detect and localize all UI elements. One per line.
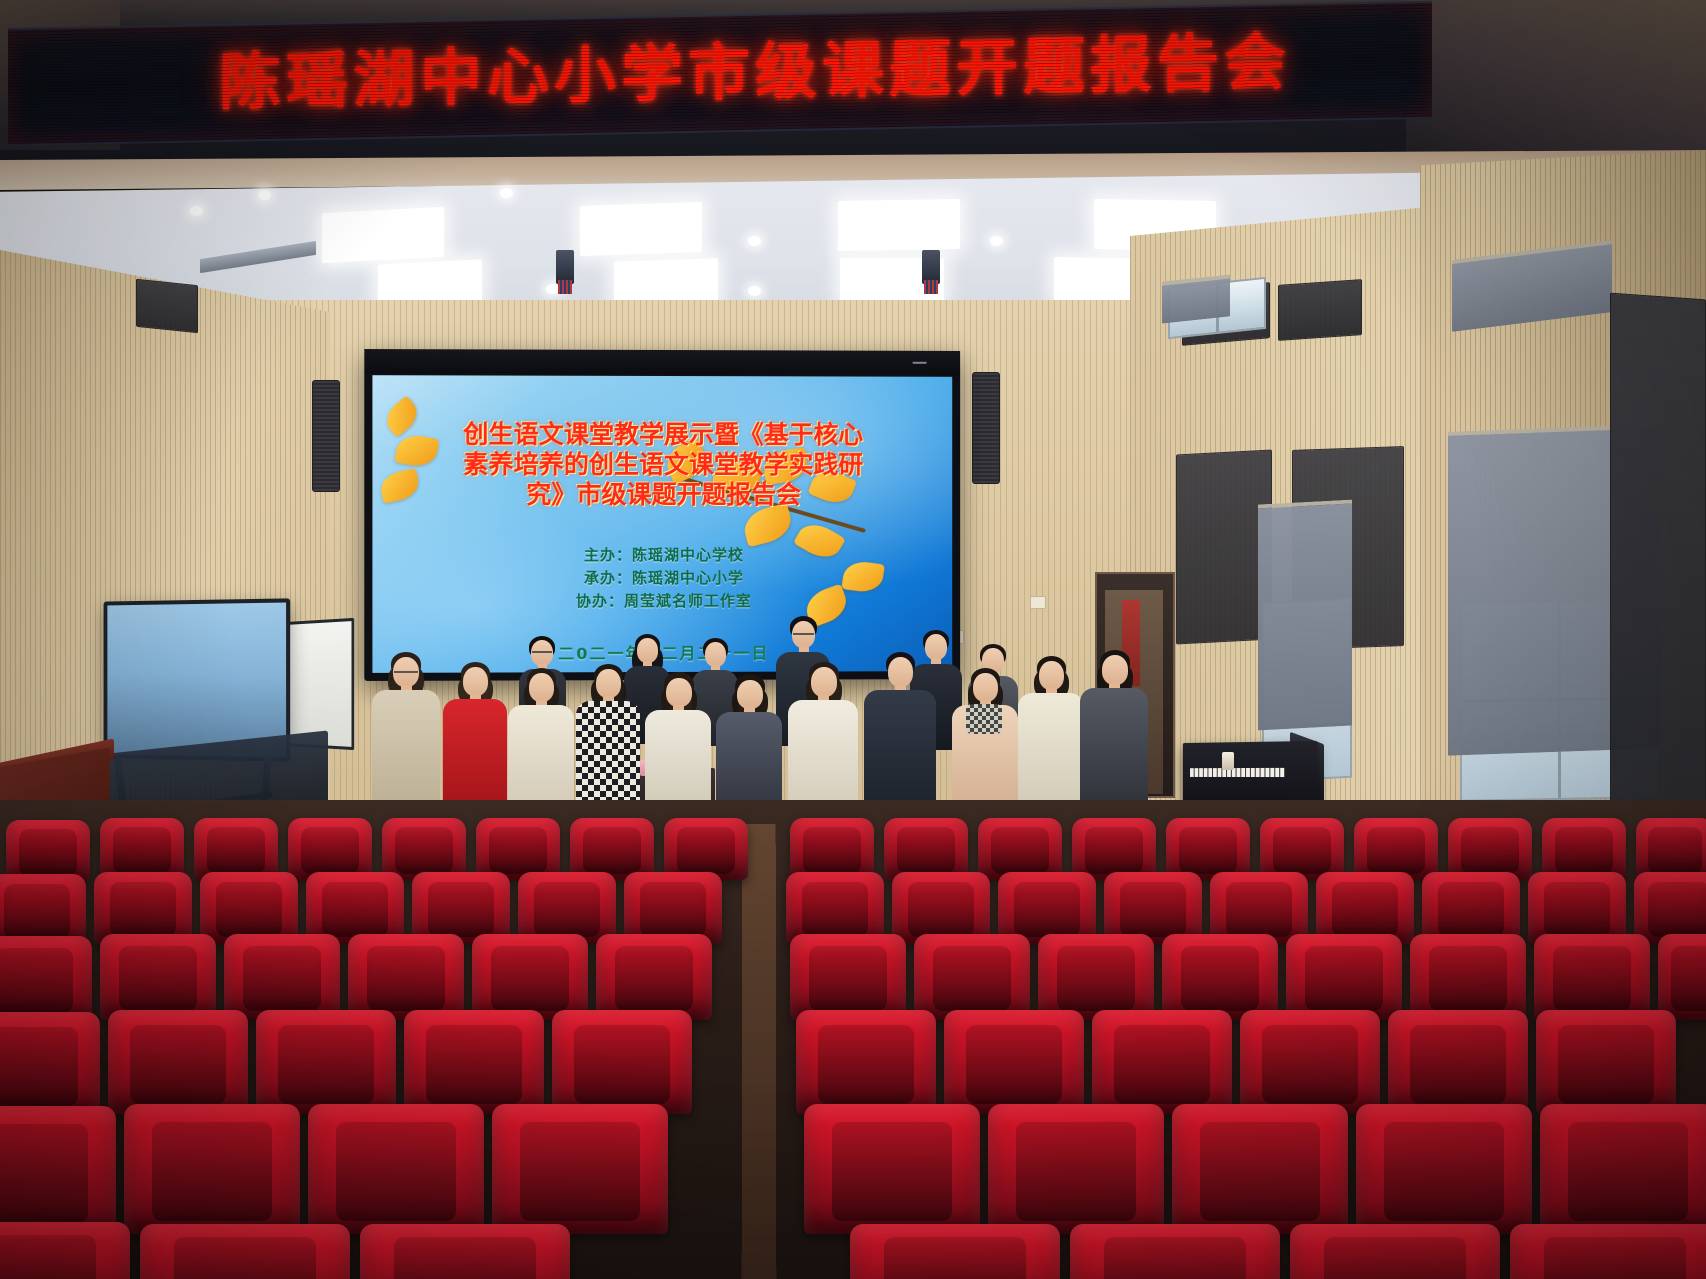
screen-organizer-host: 主办：陈瑶湖中心学校 <box>372 544 952 568</box>
seat[interactable] <box>382 818 466 880</box>
seat[interactable] <box>552 1010 692 1114</box>
piano-keys <box>1190 768 1285 777</box>
seat[interactable] <box>1162 934 1278 1020</box>
screen-title-line-3: 究》市级课题开题报告会 <box>372 480 952 509</box>
seat[interactable] <box>884 818 968 880</box>
seat[interactable] <box>288 818 372 880</box>
seat[interactable] <box>1410 934 1526 1020</box>
person-front-2 <box>443 662 507 820</box>
seat[interactable] <box>596 934 712 1020</box>
seat[interactable] <box>360 1224 570 1279</box>
ceiling-downlight <box>748 286 761 296</box>
seat[interactable] <box>1240 1010 1380 1114</box>
seat[interactable] <box>476 818 560 880</box>
seat[interactable] <box>194 818 278 880</box>
seat[interactable] <box>1542 818 1626 880</box>
seat[interactable] <box>0 1106 116 1236</box>
seat[interactable] <box>1286 934 1402 1020</box>
seat[interactable] <box>1534 934 1650 1020</box>
screen-title-line-1: 创生语文课堂教学展示暨《基于核心 <box>372 419 952 449</box>
seat[interactable] <box>850 1224 1060 1279</box>
wall-speaker-left <box>312 380 340 492</box>
wall-speaker-right <box>972 372 1000 484</box>
seat[interactable] <box>0 1012 100 1116</box>
leaf-decoration <box>740 503 795 548</box>
ceiling-beam-right <box>1406 0 1706 168</box>
seat[interactable] <box>1172 1104 1348 1234</box>
screen-title-line-2: 素养培养的创生语文课堂教学实践研 <box>372 450 952 480</box>
seat[interactable] <box>804 1104 980 1234</box>
seat[interactable] <box>790 818 874 880</box>
seat[interactable] <box>988 1104 1164 1234</box>
ceiling-downlight <box>258 190 271 200</box>
glasses-icon <box>394 671 418 676</box>
seat[interactable] <box>224 934 340 1020</box>
head <box>888 657 913 687</box>
seat[interactable] <box>1072 818 1156 880</box>
ceiling-downlight <box>748 236 761 246</box>
ceiling-panel-light <box>614 258 718 306</box>
ceiling-panel-light <box>580 202 702 256</box>
person-front-1 <box>372 652 440 817</box>
seat[interactable] <box>1536 1010 1676 1114</box>
seat[interactable] <box>404 1010 544 1114</box>
torso <box>372 690 440 817</box>
window-blind-mid[interactable] <box>1258 500 1352 731</box>
person-front-10 <box>1018 656 1084 822</box>
seat[interactable] <box>140 1224 350 1279</box>
head <box>529 673 554 702</box>
seat[interactable] <box>914 934 1030 1020</box>
seat[interactable] <box>1354 818 1438 880</box>
head <box>973 673 998 702</box>
upright-piano <box>1183 741 1318 809</box>
head <box>1039 661 1064 690</box>
seat[interactable] <box>796 1010 936 1114</box>
seat[interactable] <box>1260 818 1344 880</box>
center-aisle <box>742 824 777 1279</box>
seat[interactable] <box>348 934 464 1020</box>
ceiling-projector <box>556 250 574 284</box>
seat[interactable] <box>308 1104 484 1234</box>
acoustic-panel <box>1278 279 1362 341</box>
head <box>463 667 488 696</box>
wall-tv-right[interactable] <box>1610 293 1706 860</box>
seat[interactable] <box>1290 1224 1500 1279</box>
seat[interactable] <box>0 936 92 1022</box>
led-banner-text: 陈瑶湖中心小学市级课题开题报告会 <box>149 31 1291 115</box>
glasses-icon <box>793 633 814 638</box>
seat[interactable] <box>1636 818 1706 880</box>
person-front-11 <box>1080 650 1148 822</box>
seat[interactable] <box>1166 818 1250 880</box>
seat[interactable] <box>1540 1104 1706 1234</box>
seat[interactable] <box>0 1222 130 1279</box>
head <box>666 678 692 707</box>
projection-screen: 创生语文课堂教学展示暨《基于核心 素养培养的创生语文课堂教学实践研 究》市级课题… <box>372 375 952 673</box>
seat[interactable] <box>790 934 906 1020</box>
head <box>705 642 726 667</box>
head <box>811 667 837 697</box>
seat[interactable] <box>100 818 184 880</box>
seat[interactable] <box>1038 934 1154 1020</box>
scarf <box>966 704 1002 734</box>
seat[interactable] <box>100 934 216 1020</box>
seat[interactable] <box>570 818 654 880</box>
head <box>596 669 621 698</box>
seat[interactable] <box>1448 818 1532 880</box>
seat[interactable] <box>256 1010 396 1114</box>
ceiling-downlight <box>990 236 1003 246</box>
seat[interactable] <box>6 820 90 882</box>
seat[interactable] <box>1388 1010 1528 1114</box>
ceiling-downlight <box>500 188 513 198</box>
auditorium-photo: 陈瑶湖中心小学市级课题开题报告会 <box>0 0 1706 1279</box>
seat[interactable] <box>664 818 748 880</box>
person-front-4 <box>576 664 640 822</box>
seat[interactable] <box>108 1010 248 1114</box>
head <box>1102 655 1128 685</box>
screen-organizer-coorganizer: 协办：周莹斌名师工作室 <box>372 590 952 614</box>
ceiling-downlight <box>1090 278 1103 288</box>
glasses-icon <box>532 651 552 656</box>
projection-screen-frame: 创生语文课堂教学展示暨《基于核心 素养培养的创生语文课堂教学实践研 究》市级课题… <box>364 349 960 681</box>
window-blind-clerestory[interactable] <box>1162 274 1230 323</box>
screen-organizer-undertaker: 承办：陈瑶湖中心小学 <box>372 567 952 591</box>
ceiling-panel-light <box>838 199 960 251</box>
ceiling-downlight <box>190 206 203 216</box>
head <box>737 680 763 709</box>
seat[interactable] <box>1658 934 1706 1020</box>
wall-outlet[interactable] <box>1030 596 1046 609</box>
seat[interactable] <box>472 934 588 1020</box>
seat[interactable] <box>492 1104 668 1234</box>
person-front-8 <box>864 652 936 824</box>
seat[interactable] <box>1510 1224 1706 1279</box>
screen-top-bezel <box>364 349 960 375</box>
head <box>637 638 658 663</box>
seat[interactable] <box>978 818 1062 880</box>
seat[interactable] <box>124 1104 300 1234</box>
seat[interactable] <box>1092 1010 1232 1114</box>
acoustic-panel <box>136 279 198 334</box>
paper-cup <box>1222 752 1234 770</box>
seat[interactable] <box>1070 1224 1280 1279</box>
seat[interactable] <box>944 1010 1084 1114</box>
ceiling-downlight <box>330 248 343 258</box>
ceiling-projector <box>922 250 940 284</box>
screen-indicator-dash <box>913 362 927 364</box>
seat[interactable] <box>1356 1104 1532 1234</box>
